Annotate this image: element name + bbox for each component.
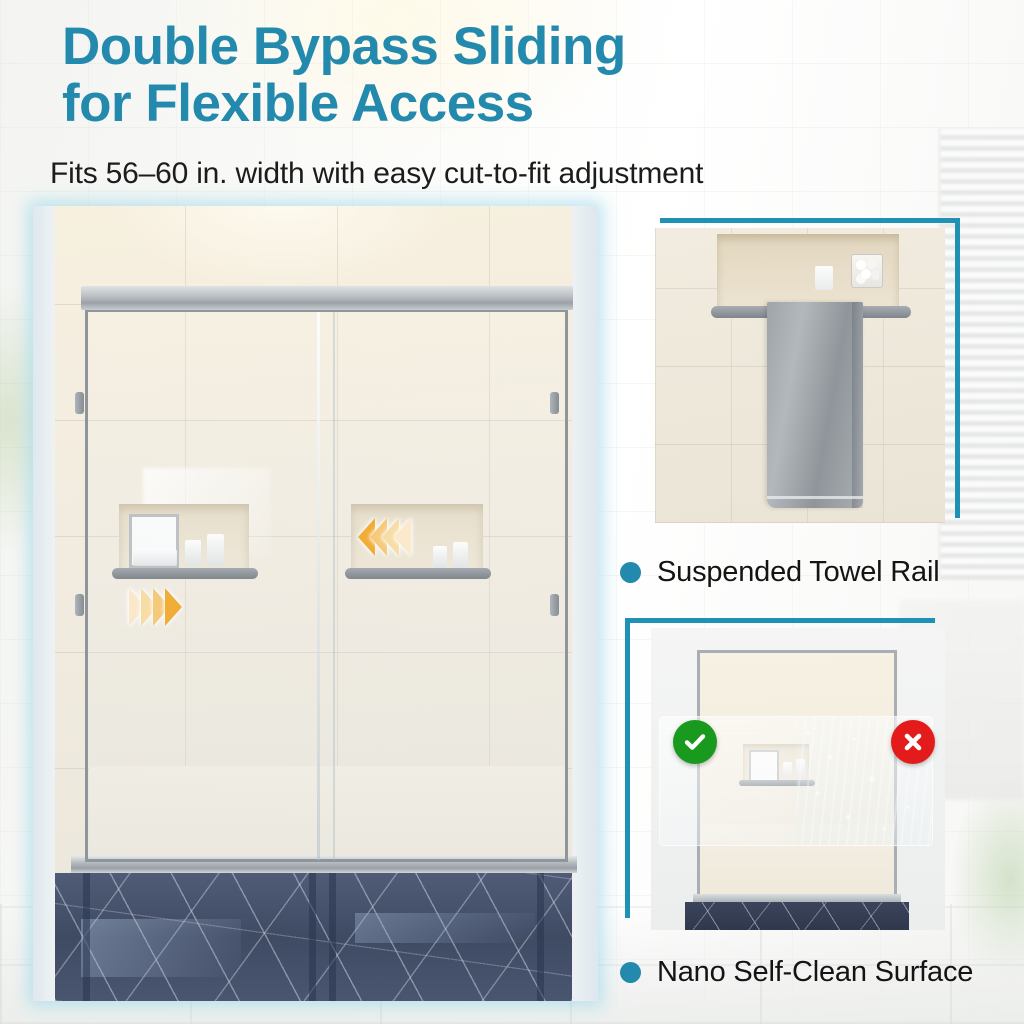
headline: Double Bypass Sliding for Flexible Acces… xyxy=(62,18,962,132)
hero-door-panel-seam xyxy=(317,312,320,860)
hero-left-lower-roller xyxy=(75,594,84,616)
cotton-balls xyxy=(855,258,879,284)
cross-icon xyxy=(901,730,925,754)
hero-left-wall-jamb xyxy=(33,206,55,1001)
hero-shower-door-photo xyxy=(33,206,598,1001)
hero-right-wall-jamb xyxy=(572,206,598,1001)
hero-stone-wainscot xyxy=(55,873,572,1001)
towel-rail-photo xyxy=(655,228,945,523)
towel-hem-stripe xyxy=(767,496,863,499)
hero-left-roller xyxy=(75,392,84,414)
cross-badge xyxy=(891,720,935,764)
caption-nano-self-clean-label: Nano Self-Clean Surface xyxy=(657,956,973,989)
caption-towel-rail-label: Suspended Towel Rail xyxy=(657,556,939,589)
hero-right-roller xyxy=(550,392,559,414)
hanging-towel xyxy=(767,302,863,508)
hero-door-panel-seam-secondary xyxy=(333,312,335,860)
towel-niche-dispenser xyxy=(815,266,833,290)
hero-stone-reflection-b xyxy=(355,913,535,943)
bullet-dot-icon xyxy=(620,962,641,983)
infographic-page: Double Bypass Sliding for Flexible Acces… xyxy=(0,0,1024,1024)
hero-top-header-rail xyxy=(81,286,573,310)
feature-panel-towel-rail xyxy=(655,218,960,523)
hero-stone-mullion-center2 xyxy=(329,873,336,1001)
hero-stone-mullion-right xyxy=(537,873,544,1001)
feature-panel-nano-self-clean xyxy=(625,618,945,930)
bullet-dot-icon xyxy=(620,562,641,583)
nano-self-clean-photo xyxy=(651,628,945,930)
hero-stone-reflection-a xyxy=(81,919,241,977)
check-icon xyxy=(682,729,708,755)
towel-niche-cotton-jar xyxy=(851,254,883,288)
hero-stone-mullion-left xyxy=(83,873,90,1001)
caption-nano-self-clean: Nano Self-Clean Surface xyxy=(620,956,973,989)
towel-fold-shadow xyxy=(852,302,863,508)
nano-stone-wainscot xyxy=(685,902,909,930)
subheadline: Fits 56–60 in. width with easy cut-to-fi… xyxy=(50,157,980,191)
hero-stone-mullion-center xyxy=(309,873,316,1001)
hero-glass-door-frame xyxy=(85,309,568,862)
hero-right-lower-roller xyxy=(550,594,559,616)
check-badge xyxy=(673,720,717,764)
caption-towel-rail: Suspended Towel Rail xyxy=(620,556,939,589)
nano-stone-crack-pattern xyxy=(685,902,909,930)
